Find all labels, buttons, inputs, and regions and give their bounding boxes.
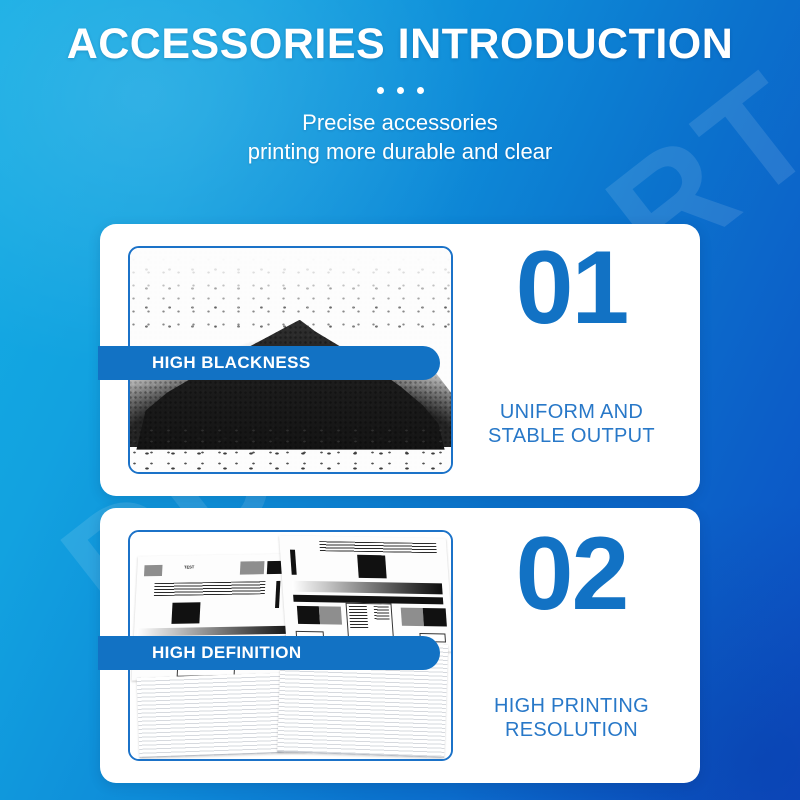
caption-line-2: STABLE OUTPUT	[453, 424, 690, 448]
feature-content-01: 01 UNIFORM AND STABLE OUTPUT	[453, 224, 700, 496]
pill-label: HIGH BLACKNESS	[98, 353, 311, 373]
powder-scatter	[130, 427, 451, 472]
feature-card-02: TEST	[100, 508, 700, 783]
feature-number: 02	[453, 522, 690, 626]
dot-separator	[0, 85, 800, 95]
caption-line-2: RESOLUTION	[453, 718, 690, 742]
feature-pill-badge: HIGH DEFINITION	[98, 636, 440, 670]
test-page-sheet	[279, 535, 453, 652]
dot-icon	[377, 87, 384, 94]
feature-content-02: 02 HIGH PRINTING RESOLUTION	[453, 508, 700, 783]
feature-card-01: 01 UNIFORM AND STABLE OUTPUT HIGH BLACKN…	[100, 224, 700, 496]
feature-number: 01	[453, 236, 690, 340]
feature-pill-badge: HIGH BLACKNESS	[98, 346, 440, 380]
caption-line-1: UNIFORM AND	[453, 400, 690, 424]
caption-line-1: HIGH PRINTING	[453, 694, 690, 718]
dot-icon	[417, 87, 424, 94]
feature-caption: UNIFORM AND STABLE OUTPUT	[453, 400, 690, 449]
subtitle-line-2: printing more durable and clear	[0, 138, 800, 166]
feature-caption: HIGH PRINTING RESOLUTION	[453, 694, 690, 743]
page-subtitle: Precise accessories printing more durabl…	[0, 109, 800, 165]
page-title: ACCESSORIES INTRODUCTION	[0, 20, 800, 69]
dot-icon	[397, 87, 404, 94]
test-page-label: TEST	[184, 564, 194, 569]
subtitle-line-1: Precise accessories	[0, 109, 800, 137]
pill-label: HIGH DEFINITION	[98, 643, 302, 663]
header: ACCESSORIES INTRODUCTION Precise accesso…	[0, 0, 800, 166]
